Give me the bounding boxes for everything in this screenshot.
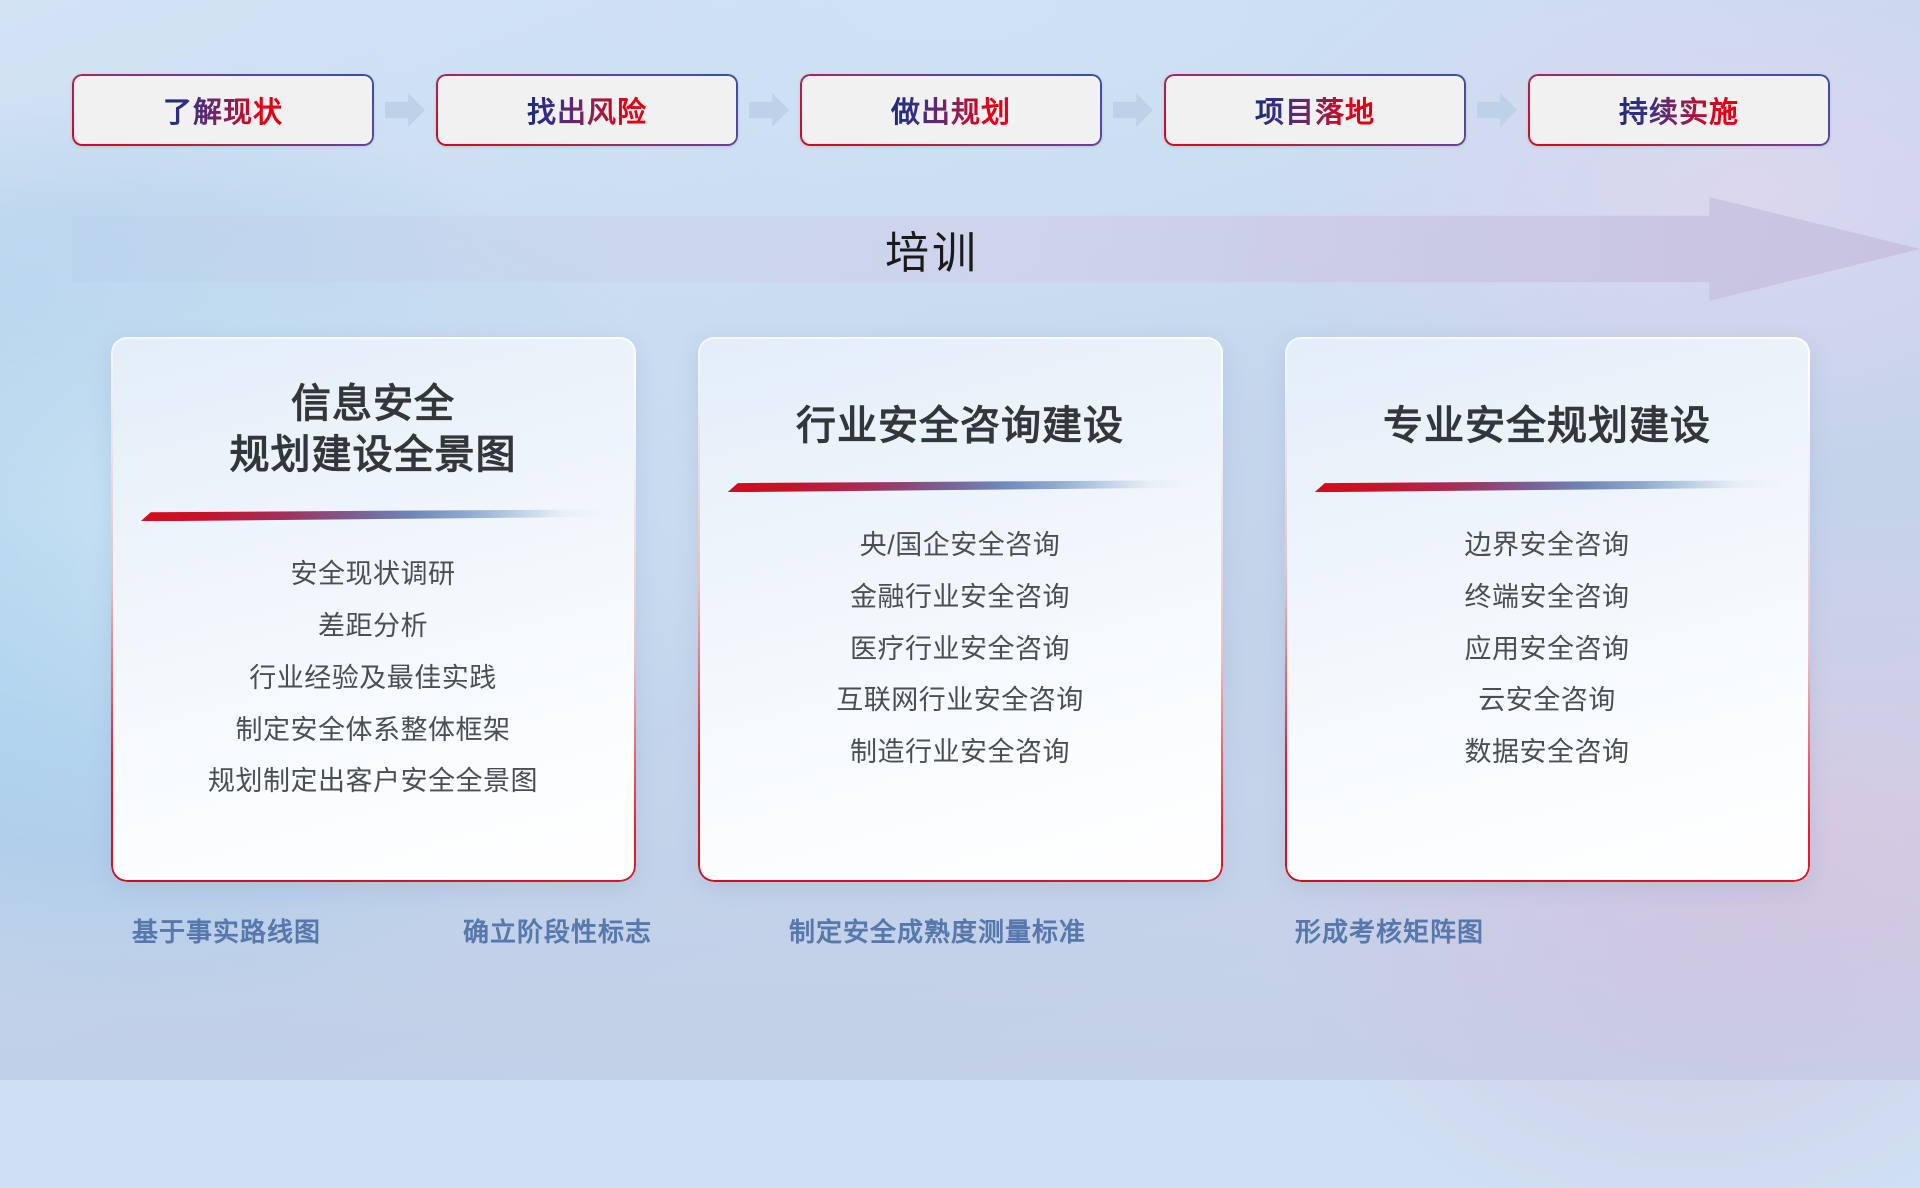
list-item: 医疗行业安全咨询: [850, 628, 1070, 672]
list-item: 安全现状调研: [291, 553, 456, 597]
list-item: 行业经验及最佳实践: [249, 657, 497, 701]
step-box-1[interactable]: 了解现状: [72, 74, 374, 146]
gradient-divider-icon: [728, 480, 1195, 492]
step-label-5: 持续实施: [1619, 89, 1739, 131]
step-label-3: 做出规划: [891, 89, 1011, 131]
list-item: 云安全咨询: [1478, 679, 1616, 723]
card-list: 安全现状调研 差距分析 行业经验及最佳实践 制定安全体系整体框架 规划制定出客户…: [111, 553, 636, 804]
step-label-4: 项目落地: [1255, 89, 1375, 131]
card-professional-security-planning[interactable]: 专业安全规划建设 边界安全咨询 终端安全咨询 应用安全咨询 云安全咨询 数据安全…: [1285, 337, 1810, 882]
card-title: 专业安全规划建设: [1285, 401, 1810, 452]
card-title: 行业安全咨询建设: [698, 401, 1223, 452]
step-group-1: 了解现状: [72, 74, 374, 146]
footer-label-maturity: 制定安全成熟度测量标准: [789, 912, 1086, 949]
step-group-4: 项目落地: [1164, 74, 1466, 146]
arrow-right-icon-4: [1477, 93, 1517, 127]
gradient-divider-icon: [141, 509, 608, 521]
list-item: 规划制定出客户安全全景图: [208, 760, 538, 804]
gradient-divider-icon: [1315, 480, 1782, 492]
footer-label-roadmap: 基于事实路线图: [132, 912, 321, 949]
list-item: 制定安全体系整体框架: [236, 709, 511, 753]
banner-title: 培训: [72, 197, 1792, 301]
card-row: 信息安全 规划建设全景图 安全现状调研 差距分析 行业经验及最佳实践 制定安全体…: [0, 337, 1920, 882]
list-item: 央/国企安全咨询: [860, 524, 1061, 568]
card-list: 央/国企安全咨询 金融行业安全咨询 医疗行业安全咨询 互联网行业安全咨询 制造行…: [698, 524, 1223, 775]
card-divider-wrap: [1285, 478, 1810, 496]
list-item: 应用安全咨询: [1465, 628, 1630, 672]
step-box-5[interactable]: 持续实施: [1528, 74, 1830, 146]
arrow-right-icon-2: [749, 93, 789, 127]
step-group-3: 做出规划: [800, 74, 1102, 146]
card-industry-security-consulting[interactable]: 行业安全咨询建设 央/国企安全咨询 金融行业安全咨询 医疗行业安全咨询 互联网行…: [698, 337, 1223, 882]
step-box-2[interactable]: 找出风险: [436, 74, 738, 146]
list-item: 数据安全咨询: [1465, 731, 1630, 775]
step-group-2: 找出风险: [436, 74, 738, 146]
step-box-3[interactable]: 做出规划: [800, 74, 1102, 146]
step-label-2: 找出风险: [527, 89, 647, 131]
step-label-1: 了解现状: [163, 89, 283, 131]
card-title: 信息安全 规划建设全景图: [111, 379, 636, 481]
card-divider-wrap: [698, 478, 1223, 496]
list-item: 边界安全咨询: [1465, 524, 1630, 568]
card-list: 边界安全咨询 终端安全咨询 应用安全咨询 云安全咨询 数据安全咨询: [1285, 524, 1810, 775]
process-step-row: 了解现状 找出风险 做出规划 项目落地 持续实施: [0, 72, 1920, 148]
footer-label-milestone: 确立阶段性标志: [463, 912, 652, 949]
list-item: 制造行业安全咨询: [850, 731, 1070, 775]
list-item: 金融行业安全咨询: [850, 576, 1070, 620]
list-item: 差距分析: [318, 605, 428, 649]
footer-label-matrix: 形成考核矩阵图: [1295, 912, 1484, 949]
card-divider-wrap: [111, 507, 636, 525]
card-info-security-blueprint[interactable]: 信息安全 规划建设全景图 安全现状调研 差距分析 行业经验及最佳实践 制定安全体…: [111, 337, 636, 882]
step-box-4[interactable]: 项目落地: [1164, 74, 1466, 146]
training-banner: 培训: [72, 197, 1920, 301]
footer-label-row: 基于事实路线图 确立阶段性标志 制定安全成熟度测量标准 形成考核矩阵图: [0, 912, 1920, 972]
step-group-5: 持续实施: [1528, 74, 1830, 146]
list-item: 互联网行业安全咨询: [836, 679, 1084, 723]
list-item: 终端安全咨询: [1465, 576, 1630, 620]
arrow-right-icon-1: [385, 93, 425, 127]
arrow-right-icon-3: [1113, 93, 1153, 127]
